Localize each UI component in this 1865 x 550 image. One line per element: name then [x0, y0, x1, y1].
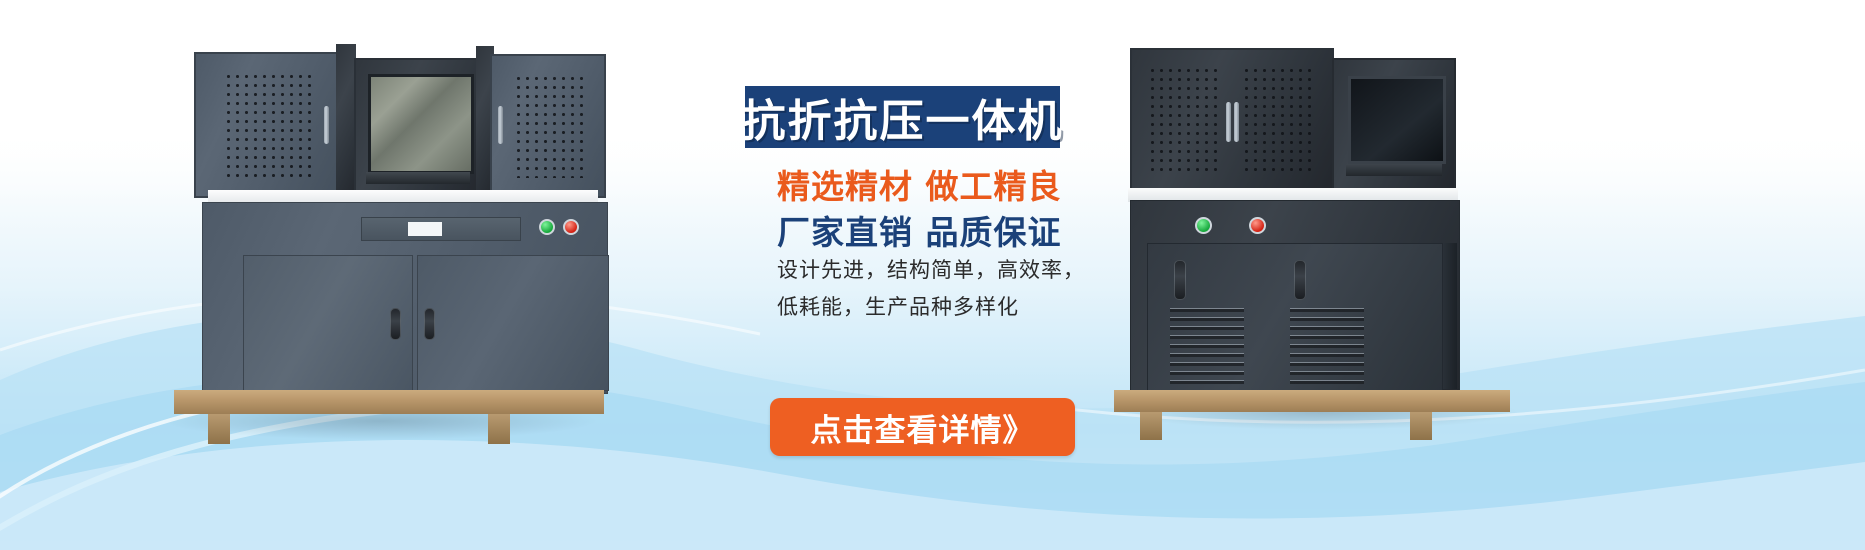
cabinet-handle: [324, 106, 329, 144]
perforated-panel-icon: [1146, 64, 1222, 176]
pallet-leg: [208, 414, 230, 444]
control-panel-label: [408, 222, 442, 236]
cabinet-side-panel: [1443, 243, 1457, 389]
ventilation-louvre-icon: [1290, 308, 1364, 384]
subhead-secondary: 厂家直销 品质保证: [777, 206, 1062, 254]
pallet-leg: [1140, 412, 1162, 440]
subhead-primary: 精选精材 做工精良: [777, 160, 1062, 208]
perforated-panel-icon: [1240, 64, 1316, 176]
left-upper-left-cabinet-side: [336, 44, 356, 194]
cabinet-handle: [1234, 102, 1239, 142]
door-handle: [1294, 260, 1306, 300]
door-handle: [390, 308, 401, 340]
wooden-pallet: [174, 390, 604, 414]
pallet-leg: [1410, 412, 1432, 440]
machine-display-screen: [368, 74, 474, 174]
cabinet-handle: [1226, 102, 1231, 142]
left-center-enclosure: [354, 58, 484, 198]
control-panel-strip: [361, 217, 521, 241]
door-handle: [424, 308, 435, 340]
display-bezel: [366, 172, 470, 184]
cabinet-handle: [498, 106, 503, 144]
wooden-pallet: [1114, 390, 1510, 412]
perforated-panel-icon: [512, 72, 588, 178]
right-monitor-enclosure: [1332, 58, 1456, 194]
cabinet-door-front: [1147, 243, 1443, 391]
cabinet-door-right: [417, 255, 609, 391]
indicator-light-red: [563, 219, 579, 235]
left-machine-body: [202, 202, 608, 394]
machine-display-screen: [1348, 76, 1446, 164]
right-top-cabinet: [1130, 48, 1334, 192]
cabinet-door-left: [243, 255, 413, 391]
view-details-button[interactable]: 点击查看详情》: [770, 398, 1075, 456]
left-machine-image: [150, 30, 610, 440]
indicator-light-green: [1195, 217, 1212, 234]
perforated-panel-icon: [222, 70, 314, 178]
right-machine-body: [1130, 200, 1460, 394]
door-handle: [1174, 260, 1186, 300]
display-bezel: [1346, 164, 1442, 176]
indicator-light-green: [539, 219, 555, 235]
description-line-2: 低耗能，生产品种多样化: [777, 291, 1019, 321]
left-upper-left-cabinet: [194, 52, 343, 198]
headline-band: 抗折抗压一体机: [745, 86, 1060, 148]
page-title: 抗折抗压一体机: [745, 86, 1060, 148]
right-machine-image: [1110, 30, 1530, 430]
left-upper-right-cabinet: [490, 54, 606, 198]
pallet-leg: [488, 414, 510, 444]
product-promo-banner: 抗折抗压一体机 精选精材 做工精良 厂家直销 品质保证 设计先进，结构简单，高效…: [0, 0, 1865, 550]
description-line-1: 设计先进，结构简单，高效率，: [777, 254, 1085, 284]
indicator-light-red: [1249, 217, 1266, 234]
ventilation-louvre-icon: [1170, 308, 1244, 384]
